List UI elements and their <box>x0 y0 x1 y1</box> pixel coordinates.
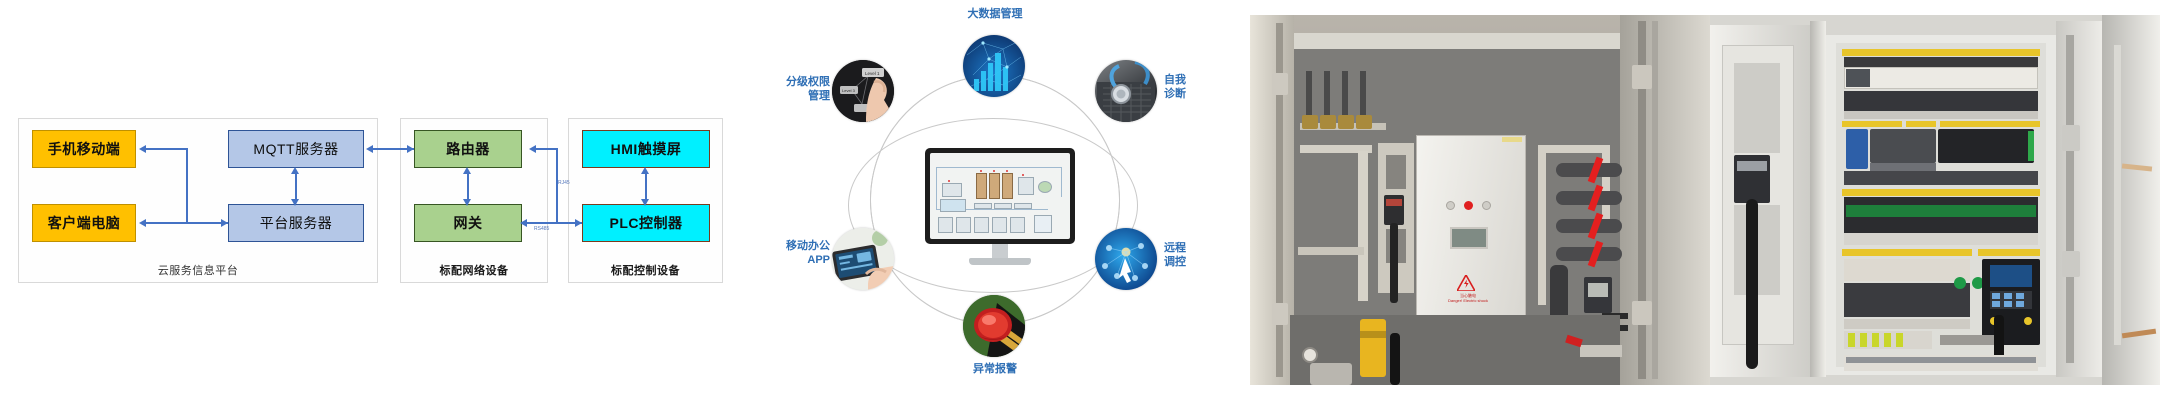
arrowhead-router-up <box>463 167 471 174</box>
node-mqtt-server[interactable]: MQTT服务器 <box>228 130 364 168</box>
monitor-screen <box>930 153 1070 239</box>
arrowhead-router-right <box>407 145 414 153</box>
group-caption-network: 标配网络设备 <box>401 262 547 278</box>
wire-gateway-plc <box>524 222 556 224</box>
arrowhead-platform-down <box>291 199 299 206</box>
feature-label-big-data: 大数据管理 <box>935 8 1055 22</box>
node-router[interactable]: 路由器 <box>414 130 522 168</box>
node-label-pc-client: 客户端电脑 <box>48 216 121 230</box>
stethoscope-laptop-icon[interactable] <box>1095 60 1157 122</box>
feature-wheel-diagram: 大数据管理 自我 诊断 <box>740 0 1240 400</box>
node-mobile-client[interactable]: 手机移动端 <box>32 130 136 168</box>
warning-label-en: Danger! Electric shock <box>1446 298 1490 303</box>
link-label-rs485: RS485 <box>534 226 549 232</box>
feature-label-remote-control: 远程 调控 <box>1164 242 1224 270</box>
outdoor-dosing-cabinet-photo: 当心触电 Danger! Electric shock <box>1250 15 1710 385</box>
feature-label-self-diagnosis: 自我 诊断 <box>1164 74 1224 102</box>
node-gateway[interactable]: 网关 <box>414 204 522 242</box>
node-label-router: 路由器 <box>446 142 490 156</box>
node-label-mobile-client: 手机移动端 <box>48 142 121 156</box>
wire-router-rj45 <box>536 148 558 150</box>
remote-network-icon[interactable] <box>1095 228 1157 290</box>
node-hmi-panel[interactable]: HMI触摸屏 <box>582 130 710 168</box>
arrowhead-router-in-left <box>529 145 536 153</box>
tablet-hand-icon[interactable] <box>832 228 894 290</box>
feature-label-mobile-office: 移动办公 APP <box>748 240 830 268</box>
plc-control-cabinet-photo <box>1710 15 2160 385</box>
wire-mobile-branch <box>146 148 187 150</box>
node-label-plc-controller: PLC控制器 <box>610 216 683 230</box>
arrowhead-platform-right <box>221 219 228 227</box>
node-platform-server[interactable]: 平台服务器 <box>228 204 364 242</box>
monitor-bezel <box>925 148 1075 244</box>
arrowhead-gateway-left <box>520 219 527 227</box>
arrowhead-hmi-up <box>641 167 649 174</box>
big-data-icon[interactable] <box>963 35 1025 97</box>
arrowhead-gateway-down <box>463 199 471 206</box>
wire-hmi-plc <box>645 172 647 202</box>
arrowhead-mobile-left <box>139 145 146 153</box>
feature-label-abnormal-alarm: 异常报警 <box>935 363 1055 377</box>
arrowhead-plc-down <box>641 199 649 206</box>
group-caption-control: 标配控制设备 <box>569 262 722 278</box>
wire-mqtt-platform <box>295 172 297 202</box>
node-label-mqtt-server: MQTT服务器 <box>253 142 338 156</box>
access-level-3-text: Level 3 <box>842 88 856 93</box>
monitor-base <box>969 258 1031 265</box>
wire-router-gateway <box>467 172 469 202</box>
feature-label-tiered-access: 分级权限 管理 <box>748 76 830 104</box>
node-label-platform-server: 平台服务器 <box>260 216 333 230</box>
alarm-beacon-icon[interactable] <box>963 295 1025 357</box>
screenshot-root: 云服务信息平台 标配网络设备 标配控制设备 手机移动端 客户端电脑 MQTT服务… <box>0 0 2160 400</box>
arrowhead-pc-left <box>139 219 146 227</box>
arrowhead-mqtt-left <box>366 145 373 153</box>
node-label-gateway: 网关 <box>454 216 483 230</box>
node-plc-controller[interactable]: PLC控制器 <box>582 204 710 242</box>
node-label-hmi-panel: HMI触摸屏 <box>611 142 682 156</box>
access-level-1-text: Level 1 <box>865 71 880 76</box>
system-architecture-diagram: 云服务信息平台 标配网络设备 标配控制设备 手机移动端 客户端电脑 MQTT服务… <box>0 0 740 400</box>
access-level-icon[interactable]: Level 1 Level 3 <box>832 60 894 122</box>
arrowhead-mqtt-up <box>291 167 299 174</box>
link-label-rj45: RJ45 <box>558 180 570 186</box>
wire-platform-mobile-riser <box>186 148 188 223</box>
group-caption-cloud: 云服务信息平台 <box>19 262 377 278</box>
arrowhead-plc-right <box>575 219 582 227</box>
central-monitor <box>925 148 1075 268</box>
node-pc-client[interactable]: 客户端电脑 <box>32 204 136 242</box>
